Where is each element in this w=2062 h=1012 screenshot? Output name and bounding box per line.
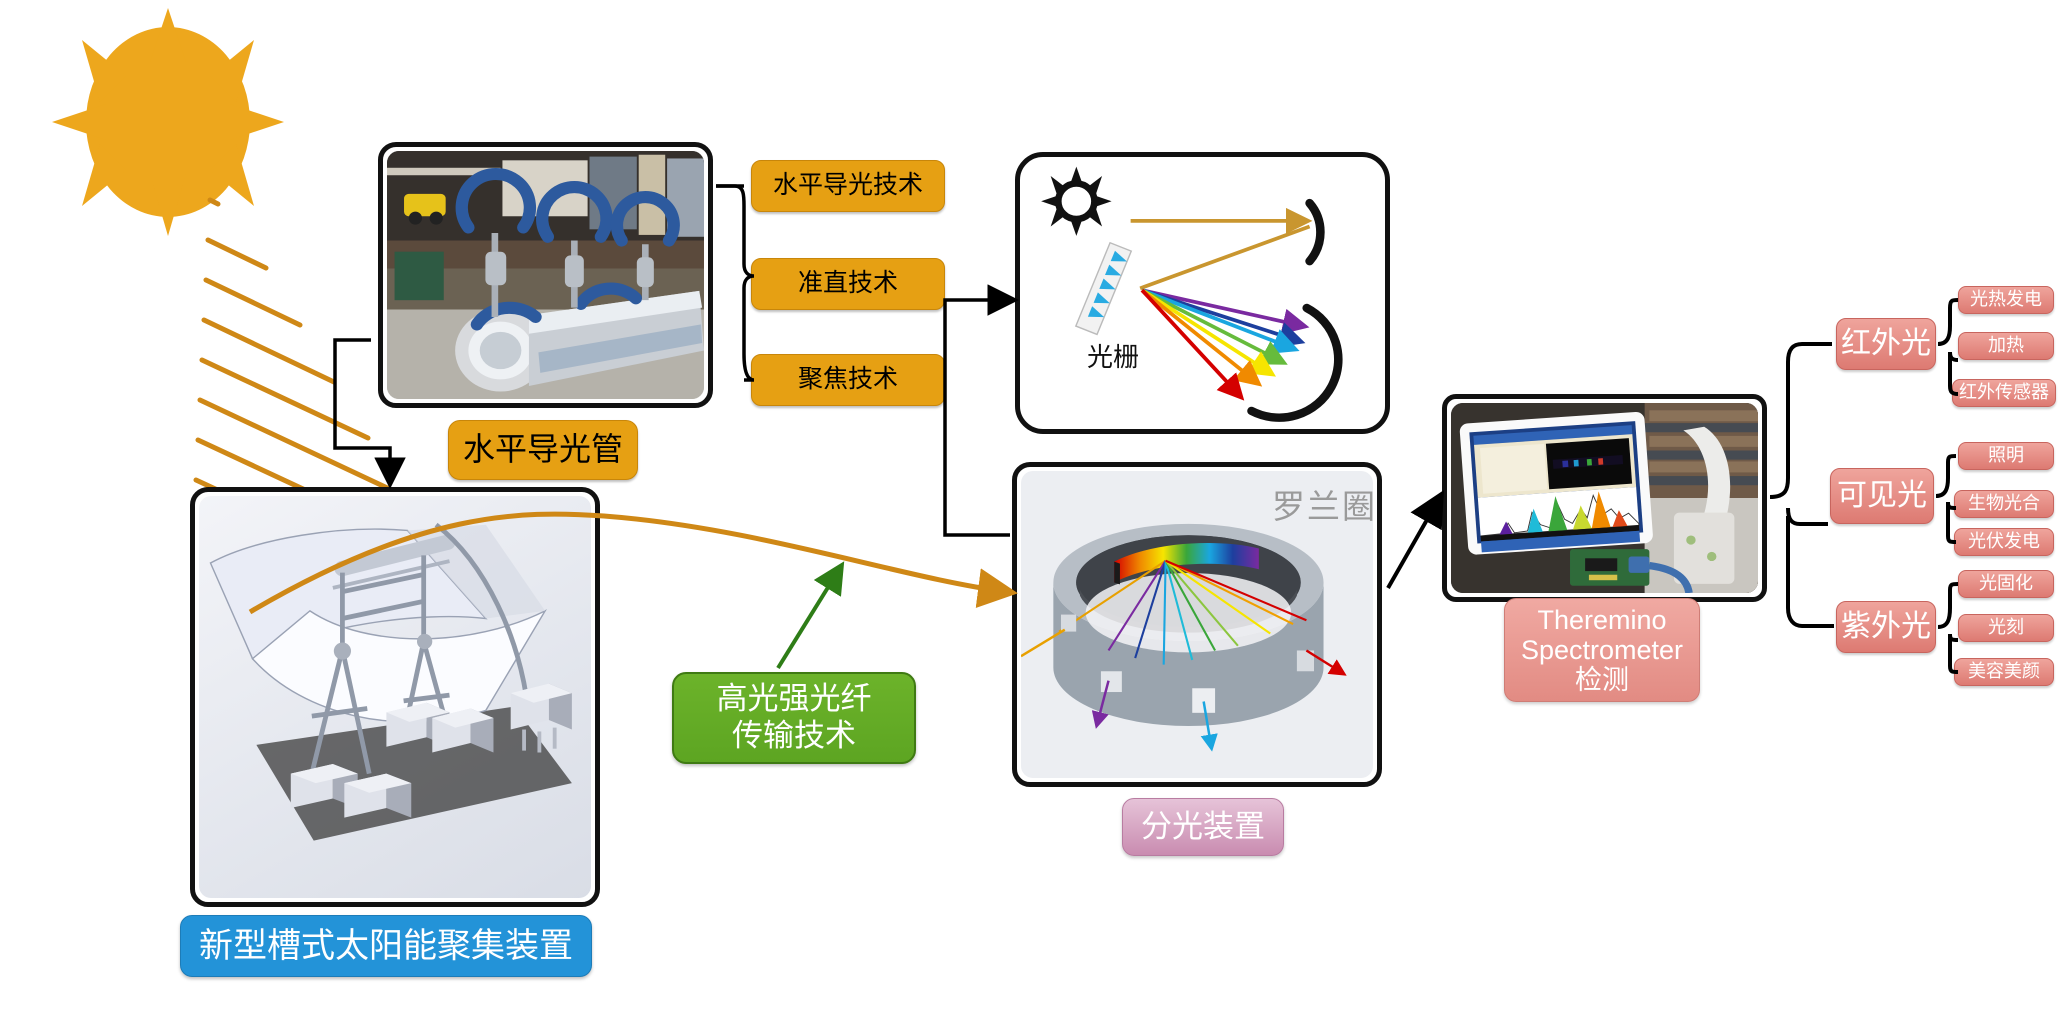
trough-photo — [199, 496, 591, 898]
use-uv-0[interactable]: 光固化 — [1958, 570, 2054, 598]
spectrometer-photo-frame — [1442, 394, 1767, 602]
tech-label-horizontal-guiding[interactable]: 水平导光技术 — [751, 160, 945, 212]
use-infrared-1[interactable]: 加热 — [1958, 332, 2054, 360]
use-visible-0[interactable]: 照明 — [1958, 442, 2054, 470]
grating-label: 光栅 — [1087, 337, 1139, 374]
light-pipe-photo — [387, 151, 704, 399]
spectral-splitting-caption: 分光装置 — [1122, 798, 1284, 856]
rowland-circle-title: 罗兰圈 — [1272, 480, 1377, 528]
use-infrared-2[interactable]: 红外传感器 — [1952, 379, 2056, 407]
connector-green-arrow — [778, 568, 840, 668]
light-pipe-caption: 水平导光管 — [448, 420, 638, 480]
connector-rowland-to-grating — [945, 300, 1012, 535]
trough-photo-frame — [190, 487, 600, 907]
diagram-canvas: 水平导光管 水平导光技术 准直技术 聚焦技术 — [0, 0, 2062, 1012]
use-infrared-0[interactable]: 光热发电 — [1958, 286, 2054, 314]
fiber-transmission-label[interactable]: 高光强光纤 传输技术 — [672, 672, 916, 764]
grating-diagram — [1024, 161, 1381, 425]
grating-panel-frame — [1015, 152, 1390, 434]
tech-label-focusing[interactable]: 聚焦技术 — [751, 354, 945, 406]
use-visible-1[interactable]: 生物光合 — [1954, 490, 2054, 518]
output-infrared[interactable]: 红外光 — [1836, 318, 1936, 370]
connector-lightpipe-to-tech — [716, 186, 754, 380]
spectrometer-caption: Theremino Spectrometer 检测 — [1504, 598, 1700, 702]
tech-label-collimation[interactable]: 准直技术 — [751, 258, 945, 310]
output-ultraviolet[interactable]: 紫外光 — [1836, 601, 1936, 653]
light-pipe-photo-frame — [378, 142, 713, 408]
spectrometer-photo — [1451, 403, 1758, 593]
output-visible[interactable]: 可见光 — [1830, 468, 1934, 524]
connector-spectrometer-to-outputs — [1770, 344, 1834, 626]
connector-rowland-to-spectrometer — [1388, 497, 1440, 588]
bracket-visible — [1936, 456, 1956, 542]
sun-icon — [52, 8, 284, 236]
use-uv-2[interactable]: 美容美颜 — [1954, 658, 2054, 686]
bracket-uv — [1938, 584, 1958, 672]
trough-caption: 新型槽式太阳能聚集装置 — [180, 915, 592, 977]
use-visible-2[interactable]: 光伏发电 — [1954, 528, 2054, 556]
use-uv-1[interactable]: 光刻 — [1958, 614, 2054, 642]
